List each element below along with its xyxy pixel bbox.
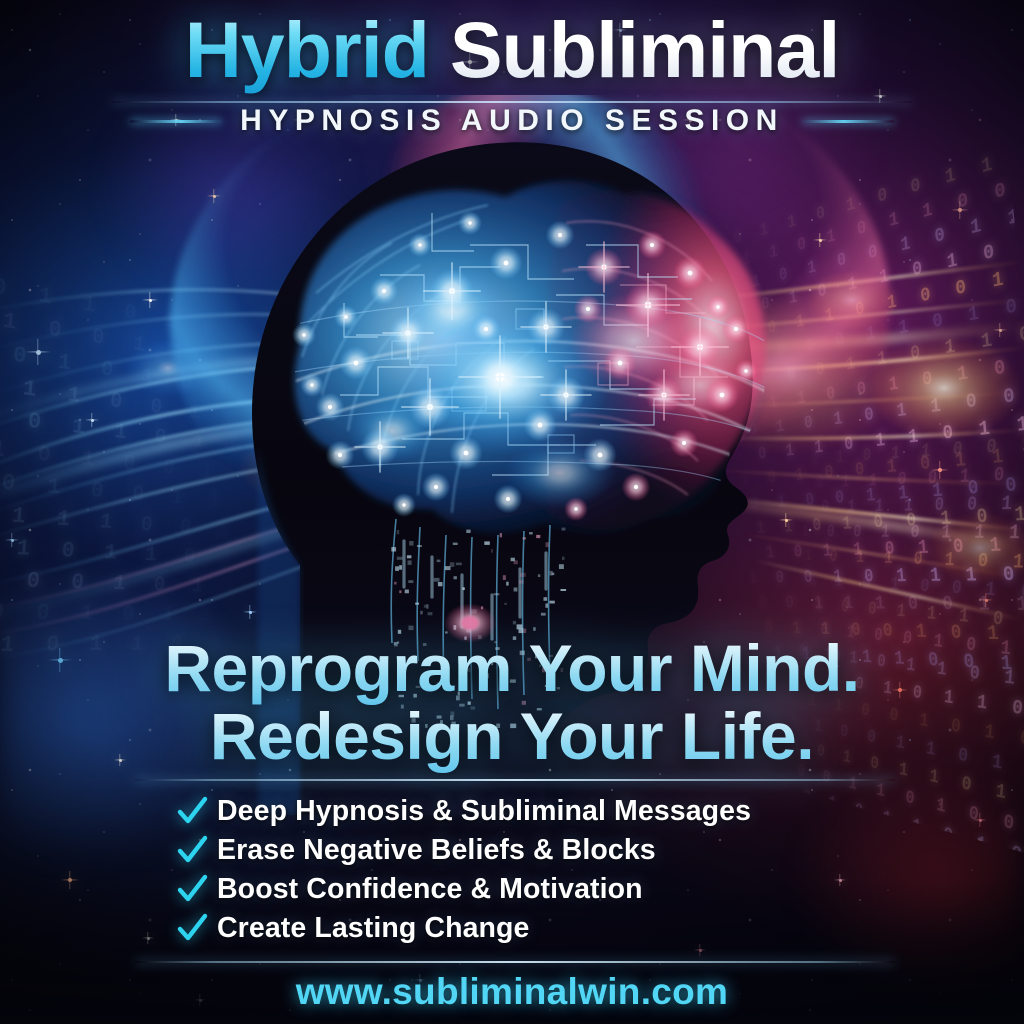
data-bit xyxy=(434,578,440,582)
neural-node xyxy=(634,485,638,489)
neural-node xyxy=(302,333,305,336)
data-bit xyxy=(545,603,548,607)
neural-node xyxy=(618,361,623,366)
divider-above-bullets xyxy=(135,779,895,781)
benefit-label: Deep Hypnosis & Subliminal Messages xyxy=(217,795,751,828)
data-bit xyxy=(428,612,433,615)
benefit-item: Create Lasting Change xyxy=(175,910,875,947)
data-bit xyxy=(426,604,428,609)
neural-node xyxy=(344,315,347,318)
data-bit xyxy=(462,587,465,590)
data-bit xyxy=(420,611,422,615)
data-bit xyxy=(395,566,399,571)
poster-canvas: 1 0 1 1 0 1 0 0 1 1 0 10 1 1 0 1 0 1 1 0… xyxy=(0,0,1024,1024)
data-bit xyxy=(445,566,451,570)
subtitle-dash-left xyxy=(130,120,222,123)
data-bit xyxy=(437,560,441,563)
check-icon xyxy=(175,912,209,946)
subtitle-dash-right xyxy=(802,120,894,123)
data-bit xyxy=(541,613,546,616)
data-bit xyxy=(399,590,401,593)
poster-subtitle: HYPNOSIS AUDIO SESSION xyxy=(0,104,1024,138)
data-bit xyxy=(562,557,565,561)
benefit-label: Boost Confidence & Motivation xyxy=(217,873,643,906)
data-bit xyxy=(536,535,540,538)
neural-node xyxy=(506,497,510,501)
data-bit xyxy=(405,590,409,594)
title-underline-rule xyxy=(112,101,912,103)
neural-node xyxy=(650,243,654,247)
data-bit xyxy=(417,545,422,547)
website-url[interactable]: www.subliminalwin.com xyxy=(0,971,1024,1013)
neural-node xyxy=(734,327,738,331)
benefit-item: Boost Confidence & Motivation xyxy=(175,871,875,908)
data-bit xyxy=(550,571,553,576)
neural-node xyxy=(688,271,693,276)
check-icon xyxy=(175,834,209,868)
neural-node xyxy=(720,393,725,398)
data-bit xyxy=(408,580,413,583)
data-bit xyxy=(456,563,462,566)
divider-below-bullets xyxy=(135,961,895,963)
neural-node xyxy=(310,383,313,386)
data-bit xyxy=(503,575,506,580)
neural-node xyxy=(538,423,543,428)
neural-node xyxy=(586,307,590,311)
neural-node xyxy=(598,453,603,458)
data-bit xyxy=(506,582,508,586)
neural-node xyxy=(382,289,386,293)
headline-line-1: Reprogram Your Mind. xyxy=(0,630,1024,706)
data-bit xyxy=(500,533,502,537)
data-bit xyxy=(550,601,555,604)
neural-node xyxy=(354,361,359,366)
data-bit xyxy=(415,603,419,605)
neural-node xyxy=(574,507,577,510)
star-sparkle xyxy=(68,878,72,882)
data-bit xyxy=(394,582,397,585)
neural-node xyxy=(484,327,488,331)
data-bit xyxy=(453,543,458,545)
neural-node xyxy=(464,451,469,456)
star-sparkle xyxy=(147,937,150,940)
title-word-accent: Hybrid xyxy=(185,5,429,94)
benefit-label: Erase Negative Beliefs & Blocks xyxy=(217,834,656,867)
neural-node xyxy=(716,305,719,308)
data-bit xyxy=(511,558,515,562)
data-bit xyxy=(399,565,402,570)
benefit-label: Create Lasting Change xyxy=(217,912,530,945)
data-bit xyxy=(519,580,524,583)
poster-title: Hybrid Subliminal xyxy=(0,8,1024,92)
neural-node xyxy=(338,453,342,457)
data-bit xyxy=(523,537,526,539)
data-bit xyxy=(561,589,567,591)
check-icon xyxy=(175,795,209,829)
data-bit xyxy=(466,530,470,533)
data-bit xyxy=(517,624,523,629)
title-word-main: Subliminal xyxy=(450,5,839,94)
benefit-list: Deep Hypnosis & Subliminal MessagesErase… xyxy=(175,793,875,949)
data-bit xyxy=(397,557,403,560)
data-bit xyxy=(409,541,413,546)
data-bit xyxy=(504,603,507,605)
neural-node xyxy=(558,233,562,237)
data-bit xyxy=(513,621,516,625)
data-bit xyxy=(544,597,548,601)
data-bit xyxy=(397,530,400,534)
data-bit xyxy=(494,593,500,595)
data-bit xyxy=(562,528,566,531)
data-bit xyxy=(538,574,540,577)
data-bit xyxy=(407,555,412,558)
neural-node xyxy=(682,441,686,445)
data-bit xyxy=(546,542,549,547)
neural-node xyxy=(434,485,438,489)
data-bit xyxy=(491,549,493,553)
benefit-item: Erase Negative Beliefs & Blocks xyxy=(175,832,875,869)
headline-line-2: Redesign Your Life. xyxy=(0,698,1024,774)
data-bit xyxy=(408,560,412,565)
data-bit xyxy=(529,532,533,534)
neural-node xyxy=(468,221,471,224)
data-bit xyxy=(559,564,564,569)
data-bit xyxy=(514,588,518,592)
neural-node xyxy=(504,261,509,266)
check-icon xyxy=(175,873,209,907)
data-bit xyxy=(520,573,526,577)
data-bit xyxy=(484,541,490,545)
neural-node xyxy=(402,503,405,506)
data-bit xyxy=(454,576,457,579)
subtitle-text: HYPNOSIS AUDIO SESSION xyxy=(240,104,784,138)
neural-node xyxy=(328,405,332,409)
data-bit xyxy=(391,547,396,551)
neural-node xyxy=(744,369,747,372)
benefit-item: Deep Hypnosis & Subliminal Messages xyxy=(175,793,875,830)
data-bit xyxy=(438,582,443,586)
neural-node xyxy=(418,243,421,246)
